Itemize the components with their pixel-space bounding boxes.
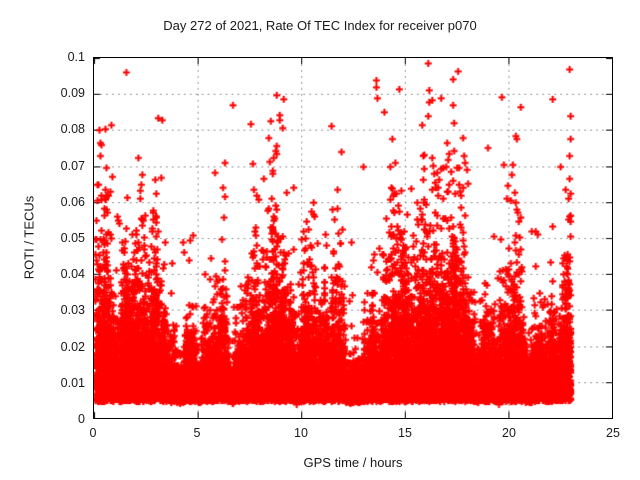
x-tick-label: 15: [375, 426, 435, 440]
plot-area: [93, 57, 613, 419]
x-axis-label: GPS time / hours: [93, 455, 613, 470]
y-tick-label: 0.05: [31, 231, 85, 245]
y-axis-tick-labels: 00.010.020.030.040.050.060.070.080.090.1: [31, 57, 85, 419]
y-tick-label: 0.02: [31, 340, 85, 354]
x-axis-tick-labels: 0510152025: [93, 426, 613, 446]
y-tick-label: 0.01: [31, 376, 85, 390]
x-tick-label: 0: [63, 426, 123, 440]
scatter-points: [94, 58, 612, 418]
y-tick-label: 0.06: [31, 195, 85, 209]
y-tick-label: 0.04: [31, 267, 85, 281]
y-tick-label: 0.09: [31, 86, 85, 100]
y-tick-label: 0.07: [31, 159, 85, 173]
chart-title: Day 272 of 2021, Rate Of TEC Index for r…: [0, 18, 640, 33]
y-tick-label: 0.08: [31, 122, 85, 136]
x-tick-label: 25: [583, 426, 640, 440]
y-tick-label: 0.1: [31, 50, 85, 64]
chart-figure: Day 272 of 2021, Rate Of TEC Index for r…: [0, 0, 640, 480]
x-tick-label: 10: [271, 426, 331, 440]
x-tick-label: 20: [479, 426, 539, 440]
x-tick-label: 5: [167, 426, 227, 440]
y-tick-label: 0: [31, 412, 85, 426]
y-tick-label: 0.03: [31, 303, 85, 317]
